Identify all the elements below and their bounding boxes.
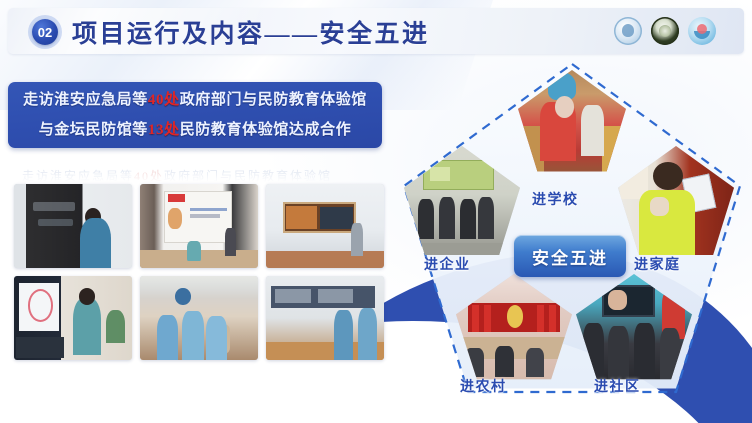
photo-touchscreen-kiosk [14,276,132,360]
pentagon-cell-company[interactable] [404,146,520,262]
photo-family-volunteer [618,146,734,262]
page-title: 项目运行及内容——安全五进 [72,17,430,47]
pentagon-label-community: 进社区 [594,376,641,396]
emblem-logo-2-icon [651,17,679,45]
pentagon-label-village: 进农村 [460,376,507,396]
pentagon-label-company: 进企业 [424,254,471,274]
faded-text-number: 40处 [134,169,164,183]
pentagon-cell-community[interactable] [576,274,692,386]
photo-students-corridor-tour [140,276,258,360]
banner-line-2-post: 民防教育体验馆达成合作 [180,122,352,138]
pentagon-diagram: 进学校 进家庭 进企业 进农村 [398,58,746,408]
faded-text-pre: 走访淮安应急局等 [22,169,134,183]
photo-grid [14,184,384,360]
photo-chalkboard-exhibit [14,184,132,268]
banner-line-1-number: 40处 [148,92,180,108]
photo-community-lecture [576,274,692,386]
banner-line-2: 与金坛民防馆等13处民防教育体验馆达成合作 [39,115,352,145]
emblem-logo-1-icon [614,17,642,45]
banner-line-1: 走访淮安应急局等40处政府部门与民防教育体验馆 [23,85,367,115]
photo-school-activity [518,70,626,178]
slide-header-bar: 02 项目运行及内容——安全五进 [8,8,744,54]
photo-company-training [404,146,520,262]
faded-text-post: 政府部门与民防教育体验馆 [164,169,332,183]
highlight-banner: 走访淮安应急局等40处政府部门与民防教育体验馆 与金坛民防馆等13处民防教育体验… [8,82,382,148]
banner-line-2-pre: 与金坛民防馆等 [39,122,148,138]
faded-text-remnant: 走访淮安应急局等40处政府部门与民防教育体验馆 [22,167,374,183]
photo-exhibition-hall-display [266,184,384,268]
pentagon-cell-school[interactable] [518,70,626,178]
photo-cpr-demonstration [140,184,258,268]
pentagon-label-family: 进家庭 [634,254,681,274]
photo-students-viewing-exhibit [266,276,384,360]
photo-village-assembly [456,274,572,386]
emblem-logo-3-icon [688,17,716,45]
pentagon-cell-village[interactable] [456,274,572,386]
pentagon-label-school: 进学校 [532,189,579,209]
logo-group [614,17,716,45]
pentagon-center-badge: 安全五进 [514,235,626,277]
section-number-badge: 02 [32,19,58,45]
slide-canvas: 02 项目运行及内容——安全五进 走访淮安应急局等40处政府部门与民防教育体验馆… [0,0,752,423]
banner-line-2-number: 13处 [148,122,180,138]
banner-line-1-post: 政府部门与民防教育体验馆 [180,92,367,108]
banner-line-1-pre: 走访淮安应急局等 [23,92,148,108]
pentagon-cell-family[interactable] [618,146,734,262]
